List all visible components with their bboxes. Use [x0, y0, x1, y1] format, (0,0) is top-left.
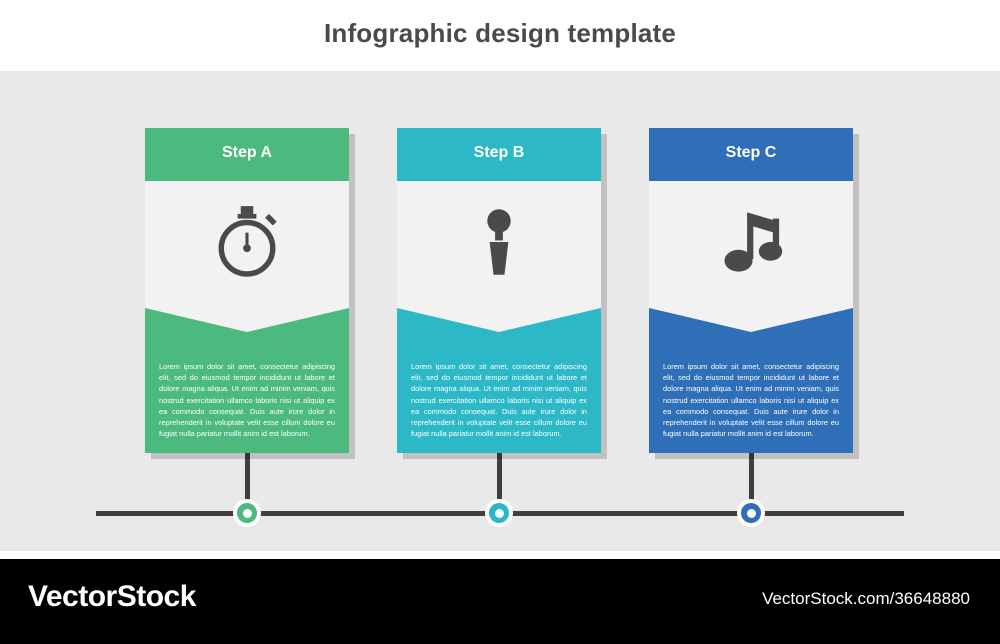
music-note-icon	[712, 203, 790, 286]
card-footer: Lorem ipsum dolor sit amet, consectetur …	[397, 308, 601, 453]
vectorstock-logo: VectorStock	[28, 580, 196, 614]
card-body: Step A	[145, 128, 349, 453]
timeline-node-step-c[interactable]	[737, 499, 765, 527]
card-description: Lorem ipsum dolor sit amet, consectetur …	[411, 361, 587, 439]
card-notch	[397, 308, 601, 332]
card-footer: Lorem ipsum dolor sit amet, consectetur …	[145, 308, 349, 453]
card-icon-area	[145, 181, 349, 308]
stopwatch-icon	[208, 203, 286, 286]
node-core	[495, 509, 504, 518]
card-notch	[145, 308, 349, 332]
page-title: Infographic design template	[0, 18, 1000, 49]
vectorstock-url: VectorStock.com/36648880	[762, 589, 970, 609]
card-footer: Lorem ipsum dolor sit amet, consectetur …	[649, 308, 853, 453]
card-header: Step A	[145, 128, 349, 181]
card-title: Step A	[145, 144, 349, 162]
card-header: Step B	[397, 128, 601, 181]
card-step-b[interactable]: Step B Lorem i	[397, 128, 601, 453]
card-title: Step B	[397, 144, 601, 162]
node-core	[747, 509, 756, 518]
node-core	[243, 509, 252, 518]
node-ring	[489, 503, 509, 523]
card-icon-area	[649, 181, 853, 308]
card-header: Step C	[649, 128, 853, 181]
card-description: Lorem ipsum dolor sit amet, consectetur …	[663, 361, 839, 439]
card-description: Lorem ipsum dolor sit amet, consectetur …	[159, 361, 335, 439]
card-title: Step C	[649, 144, 853, 162]
card-icon-area	[397, 181, 601, 308]
header-band: Infographic design template	[0, 0, 1000, 71]
timeline-node-step-a[interactable]	[233, 499, 261, 527]
footer-divider	[0, 551, 1000, 559]
card-step-c[interactable]: Step C	[649, 128, 853, 453]
node-ring	[741, 503, 761, 523]
card-body: Step C	[649, 128, 853, 453]
node-ring	[237, 503, 257, 523]
card-step-a[interactable]: Step A	[145, 128, 349, 453]
microphone-icon	[460, 203, 538, 286]
card-body: Step B Lorem i	[397, 128, 601, 453]
card-notch	[649, 308, 853, 332]
screenshot-root: Infographic design template Step A	[0, 0, 1000, 644]
timeline-node-step-b[interactable]	[485, 499, 513, 527]
infographic-canvas: Step A	[0, 71, 1000, 559]
